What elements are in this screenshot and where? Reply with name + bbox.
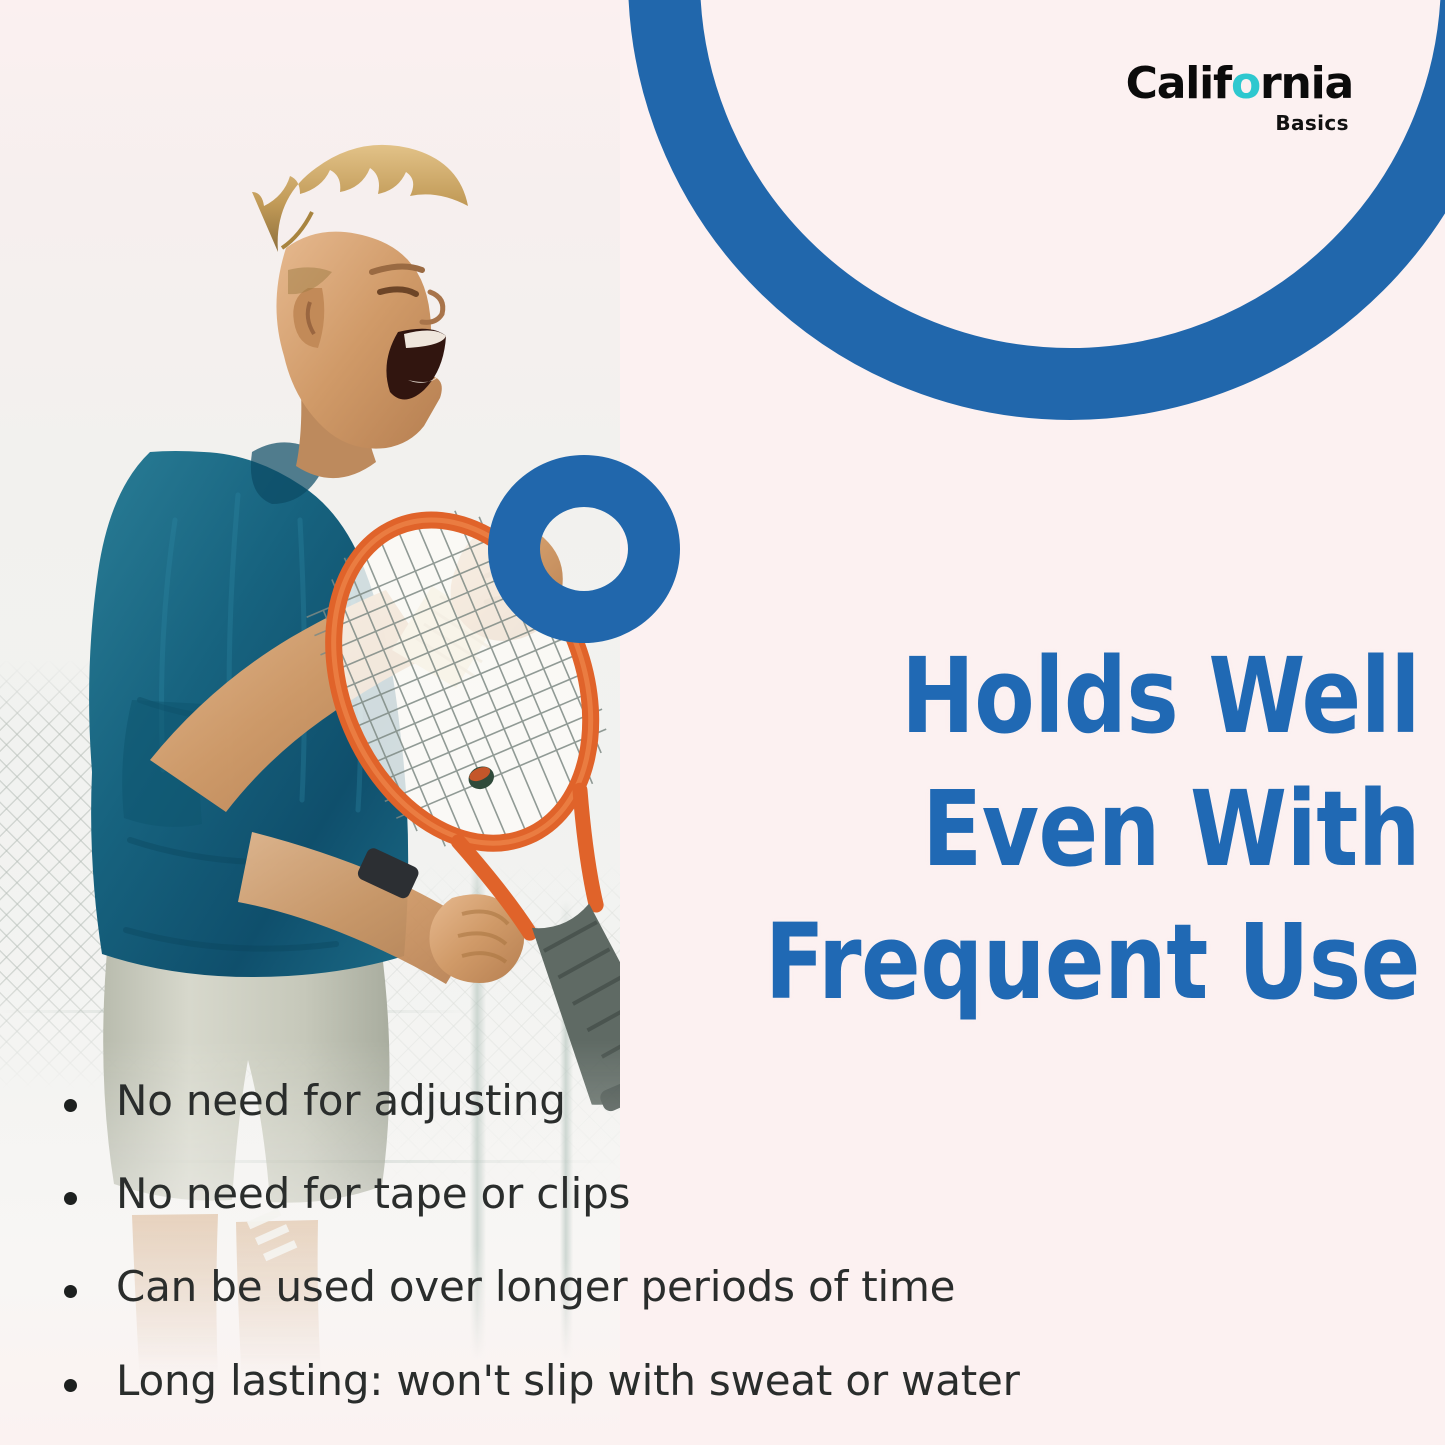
logo-accent-letter: o	[1231, 58, 1260, 109]
bullet-item: Long lasting: won't slip with sweat or w…	[58, 1358, 1398, 1404]
brand-logo: California Basics	[1126, 62, 1353, 133]
logo-name-suffix: rnia	[1260, 58, 1353, 109]
logo-name-prefix: Calif	[1126, 58, 1231, 109]
bullet-item: Can be used over longer periods of time	[58, 1264, 1398, 1310]
bullet-item: No need for adjusting	[58, 1078, 1398, 1124]
headline-line-2: Even With	[649, 763, 1420, 896]
brand-ring-shape	[488, 455, 680, 643]
logo-subtitle: Basics	[1126, 113, 1349, 133]
headline-line-3: Frequent Use	[649, 896, 1420, 1029]
promo-image-canvas: California Basics Holds Well Even With F…	[0, 0, 1445, 1445]
bullet-item: No need for tape or clips	[58, 1171, 1398, 1217]
feature-bullet-list: No need for adjusting No need for tape o…	[58, 1078, 1398, 1404]
headline-line-1: Holds Well	[649, 630, 1420, 763]
headline: Holds Well Even With Frequent Use	[649, 630, 1420, 1029]
logo-wordmark: California	[1126, 62, 1353, 106]
